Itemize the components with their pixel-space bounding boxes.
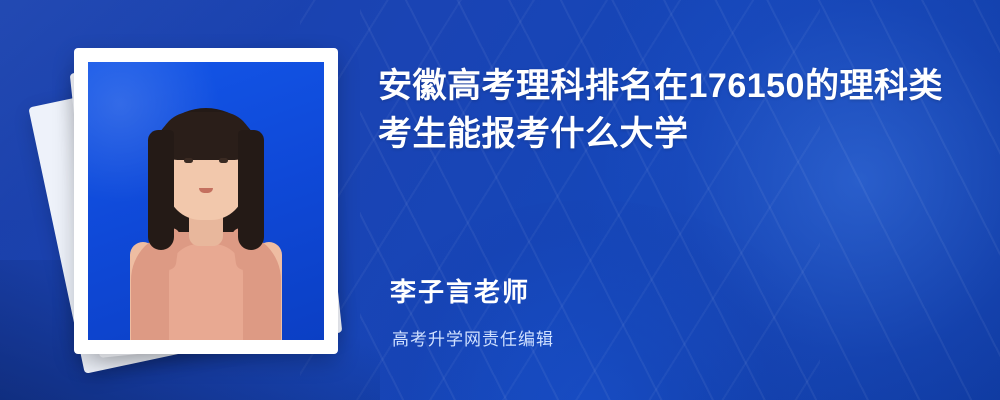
author-role: 高考升学网责任编辑 xyxy=(390,325,950,350)
portrait-illustration xyxy=(106,90,306,340)
portrait-eye-left xyxy=(184,158,193,163)
headline-block: 安徽高考理科排名在176150的理科类考生能报考什么大学 xyxy=(378,62,958,159)
page-title: 安徽高考理科排名在176150的理科类考生能报考什么大学 xyxy=(378,62,958,159)
portrait-hair-left xyxy=(148,130,174,250)
portrait-photo xyxy=(88,62,324,340)
author-name: 李子言老师 xyxy=(390,272,950,309)
photo-card-front xyxy=(74,48,338,354)
portrait-hair-right xyxy=(238,130,264,250)
portrait-eye-right xyxy=(219,158,228,163)
article-banner: 安徽高考理科排名在176150的理科类考生能报考什么大学 李子言老师 高考升学网… xyxy=(0,0,1000,400)
author-block: 李子言老师 高考升学网责任编辑 xyxy=(390,272,950,350)
photo-card-stack xyxy=(48,36,348,366)
portrait-dress-highlight xyxy=(169,244,243,340)
